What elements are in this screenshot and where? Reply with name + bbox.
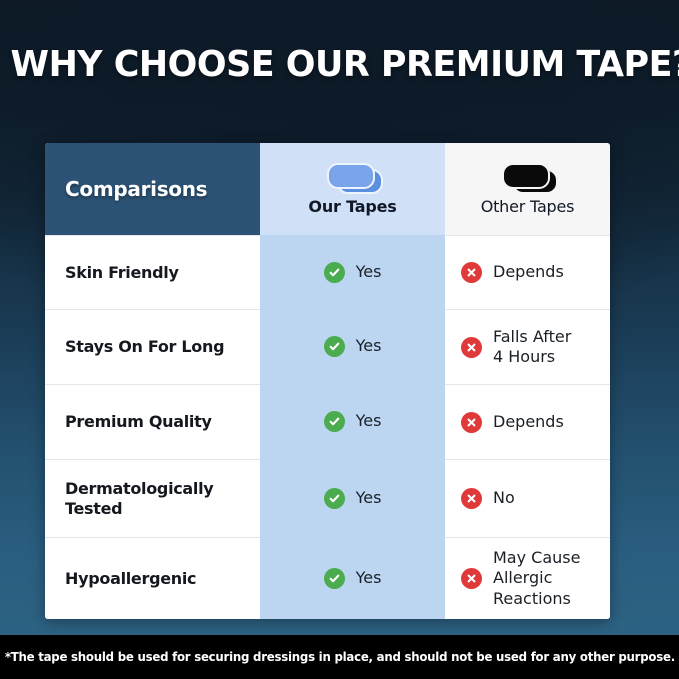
x-circle-icon: [461, 568, 482, 589]
tape-roll-blue-icon: [325, 162, 381, 192]
check-circle-icon: [324, 568, 345, 589]
header-cell-our-tapes: Our Tapes: [260, 143, 445, 235]
row-our-tapes-value: Yes: [356, 568, 382, 588]
x-circle-icon: [461, 488, 482, 509]
row-our-tapes-value: Yes: [356, 336, 382, 356]
check-circle-icon: [324, 411, 345, 432]
check-circle-icon: [324, 336, 345, 357]
row-feature-cell: Skin Friendly: [45, 235, 260, 309]
row-our-tapes-cell: Yes: [260, 537, 445, 619]
row-our-tapes-cell: Yes: [260, 384, 445, 459]
row-our-tapes-cell: Yes: [260, 235, 445, 309]
page-title: WHY CHOOSE OUR PREMIUM TAPE?: [0, 46, 679, 84]
row-feature-label: Hypoallergenic: [65, 569, 196, 589]
row-other-tapes-value: Depends: [493, 412, 564, 432]
row-our-tapes-cell: Yes: [260, 459, 445, 537]
page-title-text: WHY CHOOSE OUR PREMIUM TAPE?: [11, 46, 679, 84]
row-feature-label: Skin Friendly: [65, 263, 179, 283]
row-other-tapes-value: Falls After 4 Hours: [493, 327, 571, 368]
row-other-tapes-value: Depends: [493, 262, 564, 282]
header-cell-comparisons: Comparisons: [45, 143, 260, 235]
comparison-table: Comparisons Our Tapes Other: [45, 143, 610, 619]
row-feature-cell: Stays On For Long: [45, 309, 260, 384]
header-cell-other-tapes: Other Tapes: [445, 143, 610, 235]
row-other-tapes-cell: Falls After 4 Hours: [445, 309, 610, 384]
tape-roll-black-icon: [500, 162, 556, 192]
check-circle-icon: [324, 488, 345, 509]
row-other-tapes-cell: May Cause Allergic Reactions: [445, 537, 610, 619]
footer-disclaimer-bar: *The tape should be used for securing dr…: [0, 635, 679, 679]
table-row: Dermatologically Tested Yes No: [45, 459, 610, 537]
x-circle-icon: [461, 262, 482, 283]
x-circle-icon: [461, 412, 482, 433]
row-other-tapes-cell: No: [445, 459, 610, 537]
header-other-tapes-label: Other Tapes: [481, 197, 575, 216]
row-other-tapes-value: May Cause Allergic Reactions: [493, 548, 580, 609]
comparison-infographic: WHY CHOOSE OUR PREMIUM TAPE? Comparisons…: [0, 0, 679, 679]
row-feature-cell: Hypoallergenic: [45, 537, 260, 619]
row-our-tapes-cell: Yes: [260, 309, 445, 384]
table-row: Premium Quality Yes Depends: [45, 384, 610, 459]
header-comparisons-label: Comparisons: [65, 177, 207, 201]
row-other-tapes-cell: Depends: [445, 235, 610, 309]
row-our-tapes-value: Yes: [356, 262, 382, 282]
table-row: Skin Friendly Yes Depends: [45, 235, 610, 309]
row-feature-label: Dermatologically Tested: [65, 479, 213, 519]
row-feature-cell: Premium Quality: [45, 384, 260, 459]
check-circle-icon: [324, 262, 345, 283]
row-feature-cell: Dermatologically Tested: [45, 459, 260, 537]
table-row: Hypoallergenic Yes May Cause Allergic Re…: [45, 537, 610, 619]
row-our-tapes-value: Yes: [356, 488, 382, 508]
row-other-tapes-value: No: [493, 488, 515, 508]
footer-disclaimer-text: *The tape should be used for securing dr…: [4, 650, 674, 664]
header-our-tapes-label: Our Tapes: [308, 197, 396, 216]
table-header-row: Comparisons Our Tapes Other: [45, 143, 610, 235]
x-circle-icon: [461, 337, 482, 358]
row-feature-label: Stays On For Long: [65, 337, 224, 357]
row-our-tapes-value: Yes: [356, 411, 382, 431]
row-feature-label: Premium Quality: [65, 412, 212, 432]
row-other-tapes-cell: Depends: [445, 384, 610, 459]
table-row: Stays On For Long Yes Falls After 4 Hour…: [45, 309, 610, 384]
